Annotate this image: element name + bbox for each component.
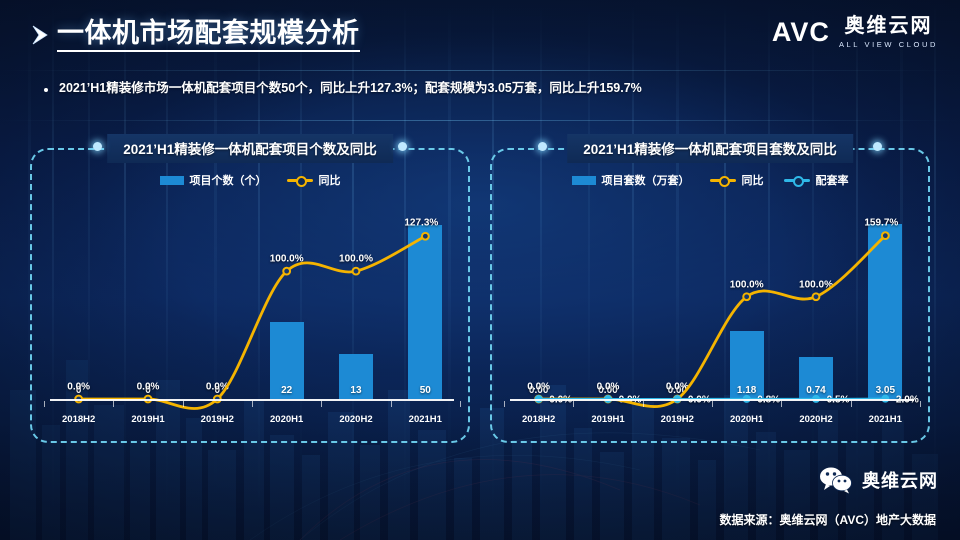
legend-item[interactable]: 项目个数（个）: [160, 172, 267, 188]
chart-panel-right: 2021’H1精装修一体机配套项目套数及同比 项目套数（万套）同比配套率 0.0…: [490, 148, 930, 443]
x-axis-label: 2021H1: [391, 414, 460, 425]
wechat-badge: 奥维云网: [819, 466, 938, 494]
frame-dot-right: [398, 142, 407, 151]
legend-label: 同比: [742, 172, 764, 188]
wechat-icon: [819, 466, 853, 494]
legend-bar-swatch: [160, 176, 184, 185]
legend-label: 配套率: [816, 172, 849, 188]
summary-text: 2021’H1精装修市场一体机配套项目个数50个，同比上升127.3%；配套规模…: [59, 80, 642, 97]
x-axis-label: 2019H1: [573, 414, 642, 425]
page-title-group: 一体机市场配套规模分析: [30, 18, 360, 52]
x-axis-tick: [643, 401, 644, 407]
chart-plot-right: 0.000.000.001.180.743.050.0%0.0%0.0%100.…: [504, 198, 920, 429]
line-point-marker[interactable]: [743, 293, 750, 300]
x-axis-tick: [44, 401, 45, 407]
legend-label: 同比: [319, 172, 341, 188]
chart-panel-left: 2021’H1精装修一体机配套项目个数及同比 项目个数（个）同比 0002213…: [30, 148, 470, 443]
x-axis-tick: [851, 401, 852, 407]
x-axis-label: 2020H1: [712, 414, 781, 425]
line-series-layer: [44, 198, 460, 429]
line-point-marker[interactable]: [813, 293, 820, 300]
x-axis-tick: [781, 401, 782, 407]
x-axis-label: 2018H2: [44, 414, 113, 425]
line-point-marker[interactable]: [283, 268, 290, 275]
legend-item[interactable]: 配套率: [784, 172, 849, 188]
chevron-right-icon: [30, 24, 50, 46]
x-axis-label: 2020H1: [252, 414, 321, 425]
bullet-dot-icon: [44, 88, 48, 92]
wechat-label: 奥维云网: [862, 467, 938, 493]
x-axis-labels: 2018H22019H12019H22020H12020H22021H1: [504, 414, 920, 425]
line-point-marker[interactable]: [353, 268, 360, 275]
x-axis-label: 2019H2: [183, 414, 252, 425]
chart-legend-right: 项目套数（万套）同比配套率: [490, 172, 930, 188]
x-axis-tick: [391, 401, 392, 407]
chart-legend-left: 项目个数（个）同比: [30, 172, 470, 188]
line-tongbi: [539, 236, 886, 407]
line-point-marker[interactable]: [882, 232, 889, 239]
x-axis-label: 2021H1: [851, 414, 920, 425]
line-point-marker[interactable]: [422, 233, 429, 240]
legend-item[interactable]: 同比: [710, 172, 764, 188]
frame-dot-left: [538, 142, 547, 151]
logo-english-name: ALL VIEW CLOUD: [839, 41, 938, 49]
frame-dot-left: [93, 142, 102, 151]
line-tongbi: [79, 236, 426, 408]
data-source-note: 数据来源：奥维云网（AVC）地产大数据: [720, 511, 936, 528]
legend-bar-swatch: [572, 176, 596, 185]
legend-line-swatch: [784, 175, 810, 185]
x-axis-tick: [252, 401, 253, 407]
legend-item[interactable]: 项目套数（万套）: [572, 172, 690, 188]
x-axis-label: 2020H2: [781, 414, 850, 425]
legend-line-swatch: [287, 175, 313, 185]
x-axis-tick: [573, 401, 574, 407]
legend-label: 项目个数（个）: [190, 172, 267, 188]
x-axis-label: 2019H1: [113, 414, 182, 425]
summary-bullet: 2021’H1精装修市场一体机配套项目个数50个，同比上升127.3%；配套规模…: [44, 80, 924, 97]
logo-mark: AVC: [772, 17, 830, 48]
x-axis-tick: [712, 401, 713, 407]
chart-plot-left: 0002213500.0%0.0%0.0%100.0%100.0%127.3%2…: [44, 198, 460, 429]
x-axis-label: 2020H2: [321, 414, 390, 425]
x-axis-labels: 2018H22019H12019H22020H12020H22021H1: [44, 414, 460, 425]
line-series-layer: [504, 198, 920, 429]
x-axis-label: 2018H2: [504, 414, 573, 425]
legend-item[interactable]: 同比: [287, 172, 341, 188]
chart-title-right: 2021’H1精装修一体机配套项目套数及同比: [567, 134, 853, 163]
chart-title-left: 2021’H1精装修一体机配套项目个数及同比: [107, 134, 393, 163]
x-axis-label: 2019H2: [643, 414, 712, 425]
legend-label: 项目套数（万套）: [602, 172, 690, 188]
x-axis-tick: [504, 401, 505, 407]
logo-chinese-name: 奥维云网: [844, 16, 932, 36]
slide-header: 一体机市场配套规模分析 AVC 奥维云网 ALL VIEW CLOUD: [0, 0, 960, 68]
avc-logo: AVC 奥维云网 ALL VIEW CLOUD: [772, 16, 938, 49]
x-axis-tick: [183, 401, 184, 407]
frame-dot-right: [873, 142, 882, 151]
page-title: 一体机市场配套规模分析: [57, 18, 360, 52]
x-axis-tick: [460, 401, 461, 407]
x-axis-tick: [113, 401, 114, 407]
x-axis-tick: [321, 401, 322, 407]
legend-line-swatch: [710, 175, 736, 185]
x-axis-tick: [920, 401, 921, 407]
